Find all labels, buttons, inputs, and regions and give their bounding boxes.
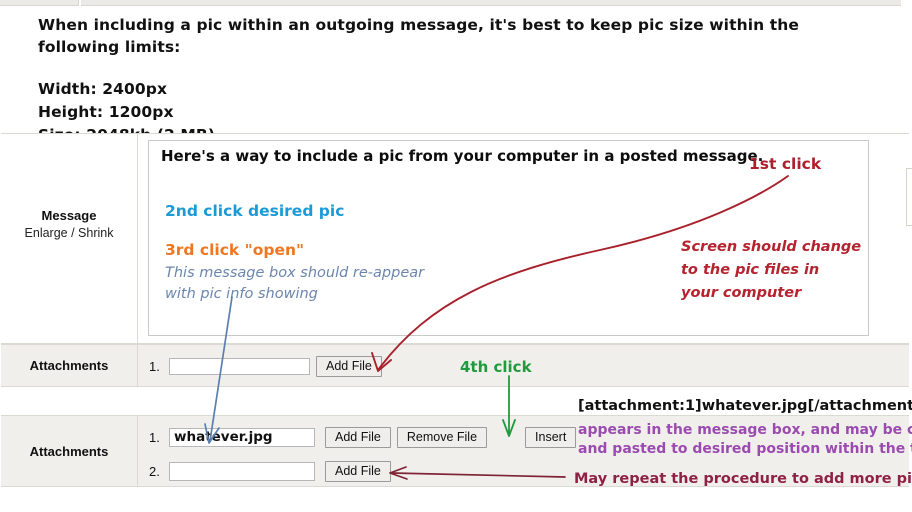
- top-partial-label-cell: [0, 0, 79, 6]
- message-label-cell: Message Enlarge / Shrink: [1, 134, 138, 343]
- attachments-first-label: Attachments: [30, 358, 109, 373]
- attachment-file-input-1[interactable]: whatever.jpg: [169, 428, 315, 447]
- attachments-first-label-cell: Attachments: [1, 345, 138, 386]
- attachment-entry-row: 2. Add File: [149, 461, 391, 482]
- annotation-2nd-click: 2nd click desired pic: [165, 202, 344, 220]
- message-body-text: Here's a way to include a pic from your …: [161, 147, 763, 165]
- add-file-button[interactable]: Add File: [316, 356, 382, 377]
- message-enlarge-shrink-links[interactable]: Enlarge / Shrink: [25, 226, 114, 240]
- insert-button[interactable]: Insert: [525, 427, 576, 448]
- attachments-row-first: Attachments 1. Add File: [1, 344, 909, 387]
- intro-width-line: Width: 2400px: [38, 78, 878, 101]
- screenshot-root: When including a pic within an outgoing …: [0, 0, 912, 512]
- add-file-button[interactable]: Add File: [325, 461, 391, 482]
- intro-lead-line: When including a pic within an outgoing …: [38, 14, 878, 58]
- message-textarea[interactable]: Here's a way to include a pic from your …: [148, 140, 869, 336]
- attachment-file-input-1[interactable]: [169, 358, 310, 375]
- top-partial-field-cell: [81, 0, 901, 6]
- top-partial-row: [0, 0, 912, 6]
- attachments-second-label: Attachments: [30, 444, 109, 459]
- attachment-entry-row: 1. whatever.jpg Add File Remove File Ins…: [149, 427, 576, 448]
- message-label: Message: [42, 208, 97, 223]
- annotation-3rd-click-note: This message box should re-appear with p…: [165, 263, 424, 305]
- attachments-second-label-cell: Attachments: [1, 416, 138, 486]
- attachment-file-input-2[interactable]: [169, 462, 315, 481]
- message-row: Message Enlarge / Shrink Here's a way to…: [1, 133, 909, 344]
- attachments-row-second: Attachments 1. whatever.jpg Add File Rem…: [1, 415, 909, 487]
- add-file-button[interactable]: Add File: [325, 427, 391, 448]
- attachment-index-label: 2.: [149, 464, 163, 479]
- spacer-row: [1, 387, 909, 415]
- attachment-index-label: 1.: [149, 430, 163, 445]
- intro-height-line: Height: 1200px: [38, 101, 878, 124]
- right-edge-tab: [906, 168, 912, 226]
- attachments-first-field-cell: 1. Add File: [139, 345, 909, 386]
- message-field-cell: Here's a way to include a pic from your …: [139, 134, 909, 343]
- attachment-entry-row: 1. Add File: [149, 356, 382, 377]
- remove-file-button[interactable]: Remove File: [397, 427, 487, 448]
- attachments-second-field-cell: 1. whatever.jpg Add File Remove File Ins…: [139, 416, 909, 486]
- post-form-table: Message Enlarge / Shrink Here's a way to…: [1, 133, 909, 487]
- annotation-3rd-click: 3rd click "open": [165, 241, 304, 259]
- attachment-index-label: 1.: [149, 359, 163, 374]
- intro-text-block: When including a pic within an outgoing …: [38, 14, 878, 147]
